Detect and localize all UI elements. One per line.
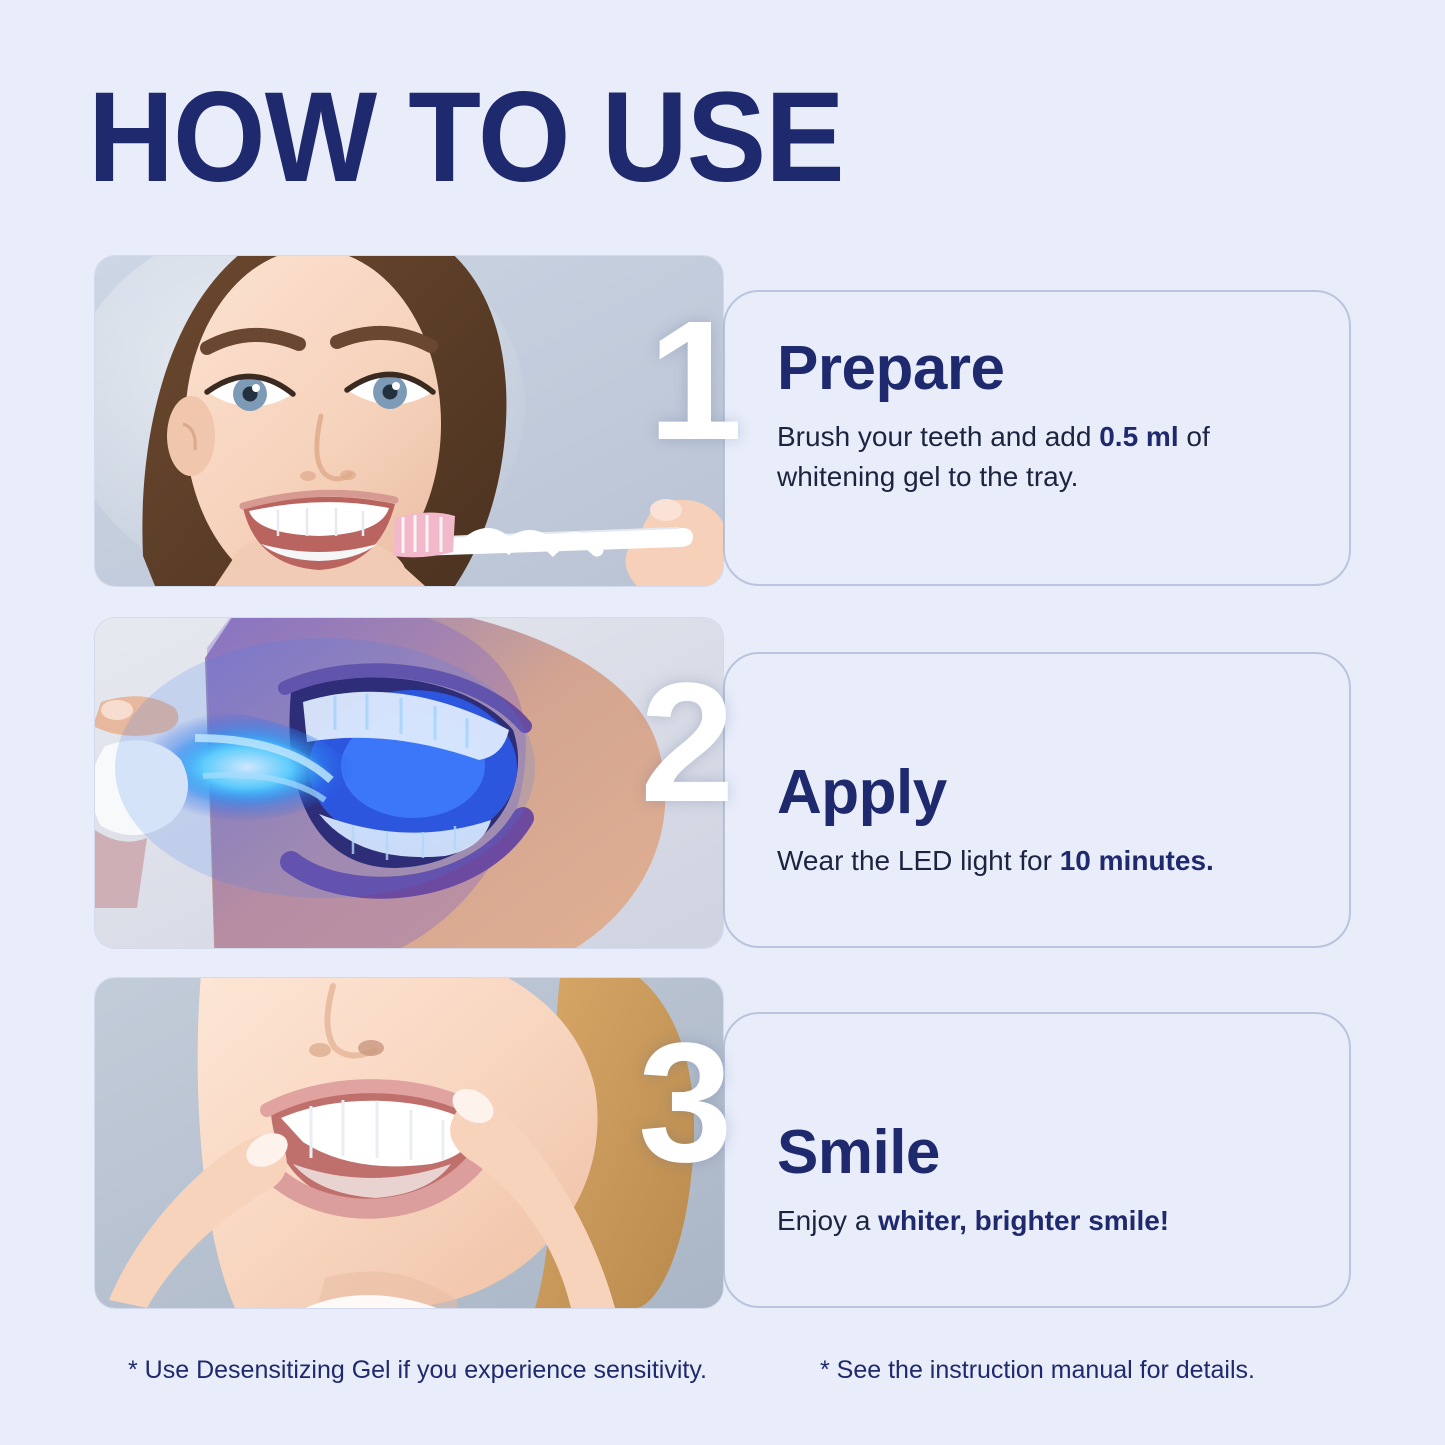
step-number-3: 3 <box>638 1018 729 1188</box>
step-heading-3: Smile <box>777 1120 1322 1185</box>
step-number-2: 2 <box>640 658 731 828</box>
footnote-desensitizing-gel: * Use Desensitizing Gel if you experienc… <box>128 1356 707 1385</box>
step-photo-3 <box>95 978 723 1308</box>
step-body-highlight-3: whiter, brighter smile! <box>878 1205 1169 1236</box>
steps-list: 1 Prepare Brush your teeth and add 0.5 m… <box>0 0 1445 1445</box>
step-photo-2 <box>95 618 723 948</box>
step-item-1: 1 Prepare Brush your teeth and add 0.5 m… <box>0 256 1445 586</box>
step-text-block-3: Smile Enjoy a whiter, brighter smile! <box>777 1120 1322 1241</box>
step-heading-2: Apply <box>777 760 1322 825</box>
step-item-3: 3 Smile Enjoy a whiter, brighter smile! <box>0 978 1445 1308</box>
footnotes: * Use Desensitizing Gel if you experienc… <box>0 1356 1445 1412</box>
step-photo-1 <box>95 256 723 586</box>
step-body-highlight-1: 0.5 ml <box>1099 421 1178 452</box>
step-body-highlight-2: 10 minutes. <box>1060 845 1214 876</box>
step-text-block-1: Prepare Brush your teeth and add 0.5 ml … <box>777 336 1322 497</box>
step-body-3: Enjoy a whiter, brighter smile! <box>777 1201 1322 1241</box>
step-item-2: 2 Apply Wear the LED light for 10 minute… <box>0 618 1445 948</box>
footnote-instruction-manual: * See the instruction manual for details… <box>820 1356 1255 1385</box>
step-text-block-2: Apply Wear the LED light for 10 minutes. <box>777 760 1322 881</box>
step-body-prefix-3: Enjoy a <box>777 1205 878 1236</box>
step-heading-1: Prepare <box>777 336 1322 401</box>
step-body-prefix-1: Brush your teeth and add <box>777 421 1099 452</box>
step-number-1: 1 <box>648 296 739 466</box>
step-body-1: Brush your teeth and add 0.5 ml of white… <box>777 417 1322 497</box>
step-body-prefix-2: Wear the LED light for <box>777 845 1060 876</box>
step-body-2: Wear the LED light for 10 minutes. <box>777 841 1322 881</box>
